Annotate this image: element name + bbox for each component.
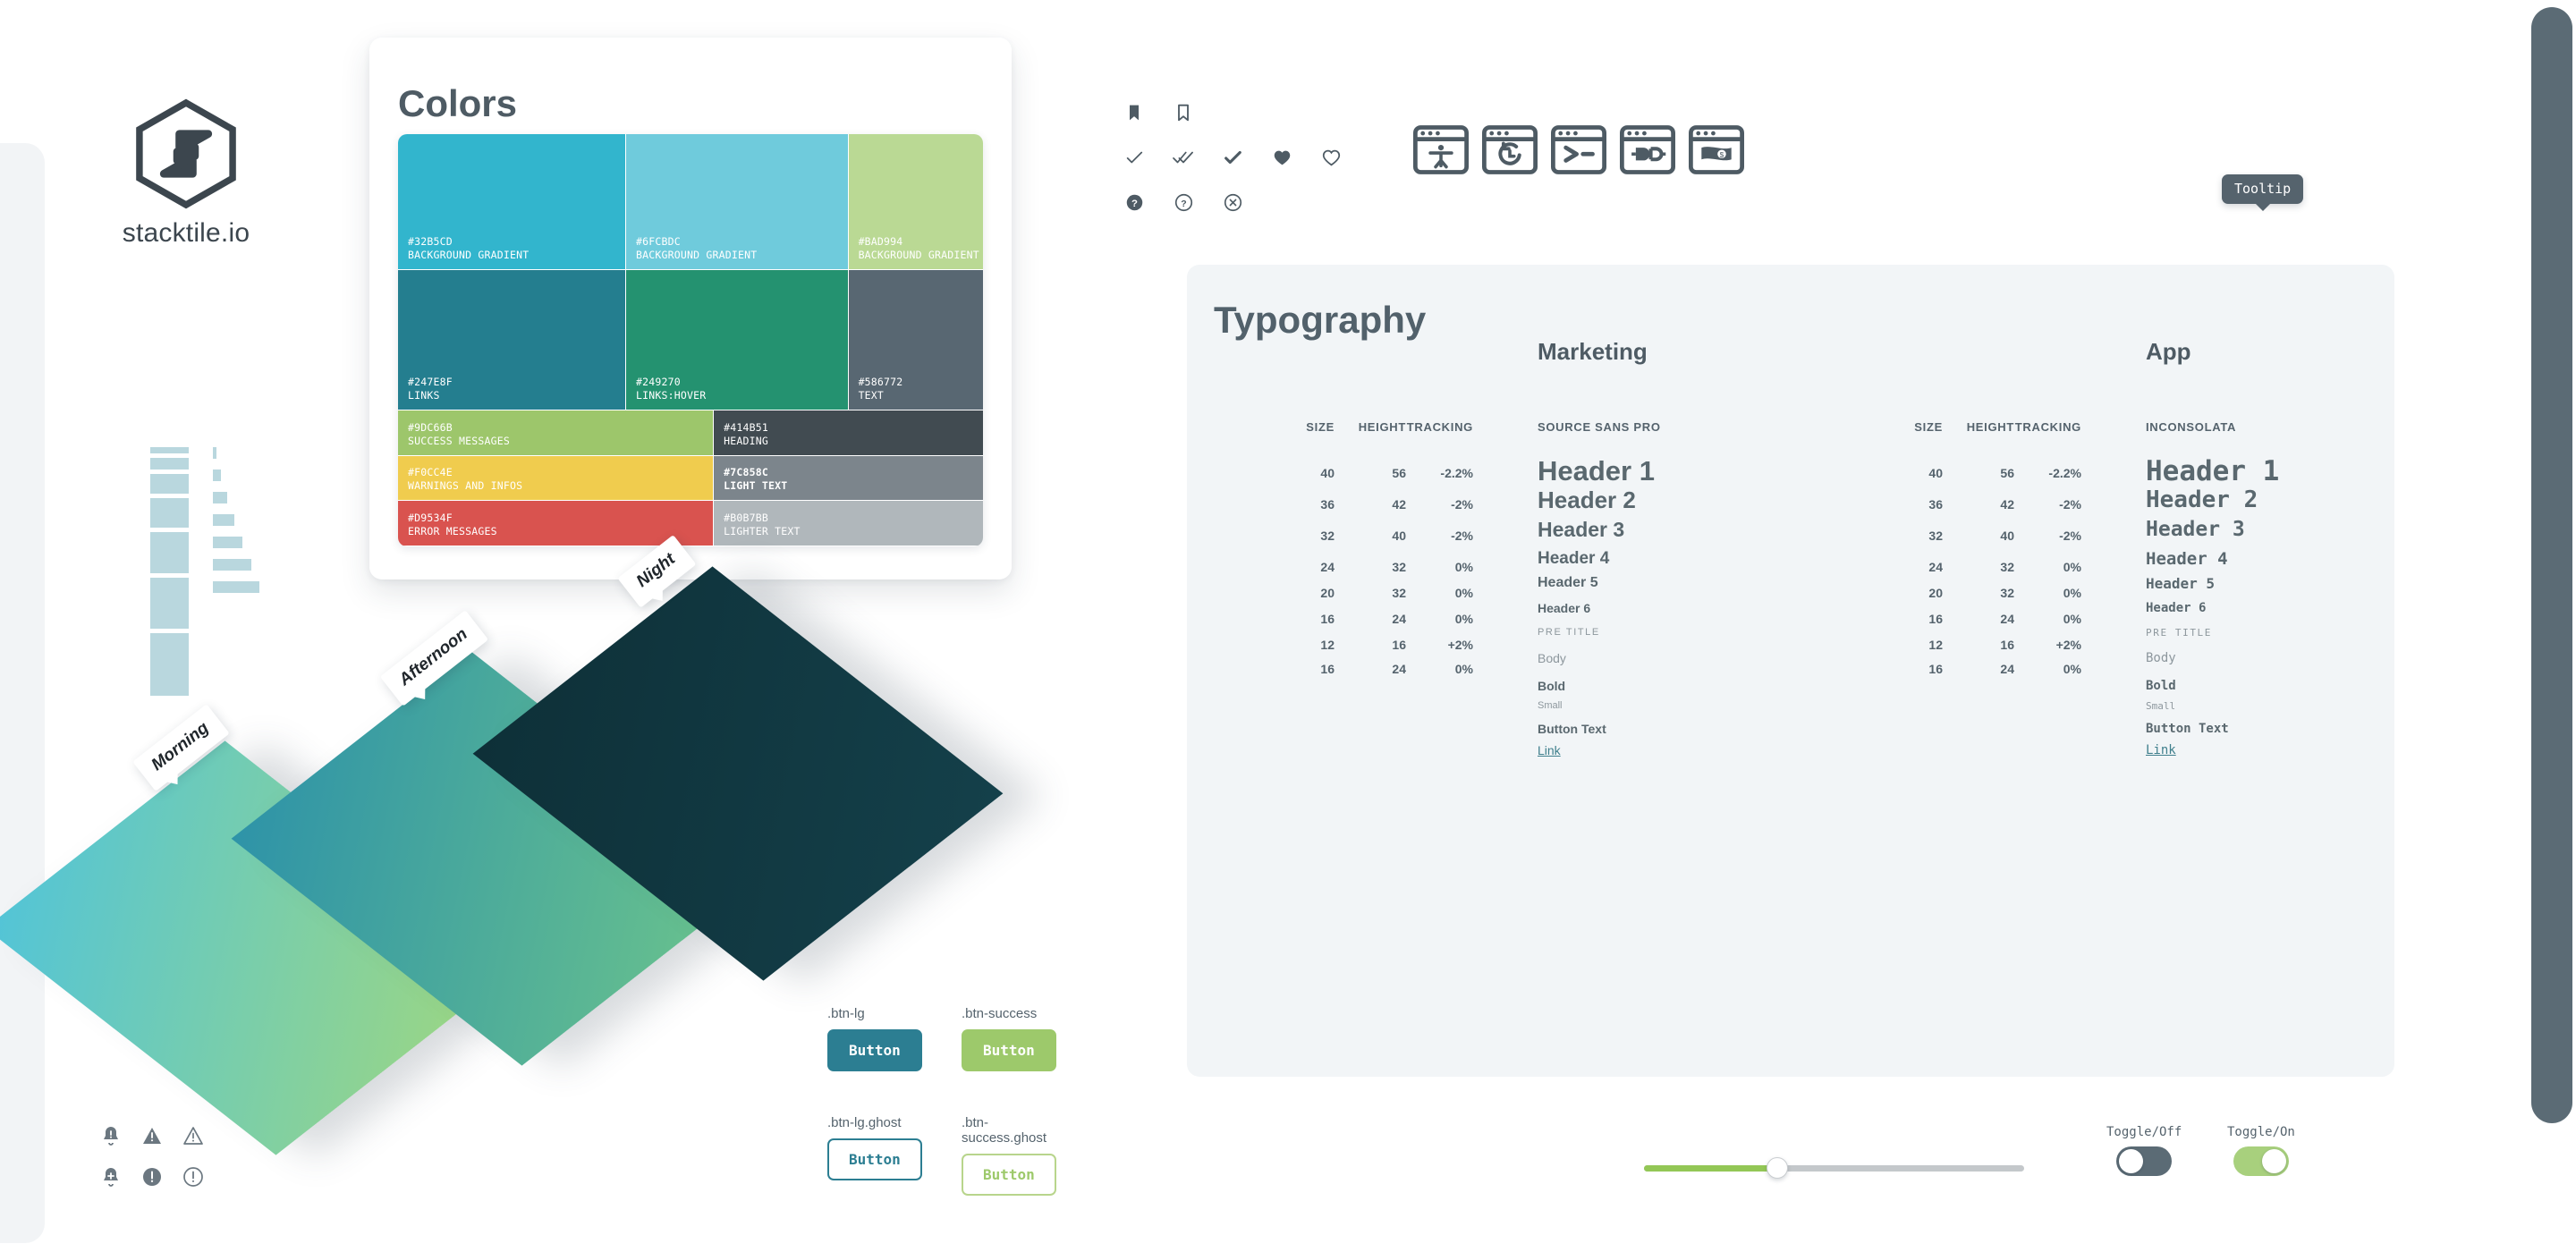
swatch-label: #F0CC4EWARNINGS AND INFOS: [408, 466, 522, 493]
color-swatch[interactable]: #32B5CDBACKGROUND GRADIENT: [398, 134, 626, 270]
typography-cell: 36: [1254, 497, 1335, 512]
toggle-on-switch[interactable]: [2233, 1146, 2289, 1176]
typography-cell: -2%: [2001, 497, 2081, 512]
svg-text:$: $: [1720, 150, 1724, 159]
typography-sample: Bold: [2146, 679, 2176, 693]
window-accessibility-icon[interactable]: [1413, 125, 1469, 174]
swatch-label: #32B5CDBACKGROUND GRADIENT: [408, 235, 529, 262]
typography-sample: Header 5: [1538, 575, 1598, 591]
typography-cell: 40: [1862, 466, 1943, 480]
slider-fill: [1644, 1165, 1777, 1172]
check-icon[interactable]: [1122, 145, 1147, 170]
icon-row-checks: [1122, 145, 1343, 170]
colors-title: Colors: [398, 82, 517, 125]
swatch-hex: #586772: [859, 376, 903, 389]
typography-table: MarketingSIZEHEIGHTTRACKINGSOURCE SANS P…: [1187, 265, 2394, 1077]
info-outline-icon[interactable]: [182, 1166, 204, 1188]
typography-sample: Small: [1538, 700, 1563, 711]
typography-sample: Body: [2146, 651, 2176, 665]
typography-sample: Header 1: [2146, 455, 2279, 487]
typography-cell: 0%: [1393, 662, 1473, 676]
toggle-off-group: Toggle/Off: [2106, 1125, 2182, 1180]
swatch-hex: #7C858C: [724, 466, 787, 479]
scale-bar: [213, 537, 242, 548]
swatch-label: #7C858CLIGHT TEXT: [724, 466, 787, 493]
swatch-hex: #414B51: [724, 421, 768, 435]
bookmark-filled-icon[interactable]: [1122, 100, 1147, 125]
typography-column-header: SIZE: [1254, 420, 1335, 434]
window-icon-set: $: [1413, 125, 1744, 174]
demo-button[interactable]: Button: [827, 1138, 922, 1180]
color-swatch[interactable]: #247E8FLINKS: [398, 270, 626, 410]
typography-cell: 12: [1862, 638, 1943, 652]
slider-knob[interactable]: [1767, 1157, 1788, 1179]
scale-block: [150, 474, 189, 494]
swatch-label: #247E8FLINKS: [408, 376, 453, 402]
scale-bar: [213, 469, 221, 481]
icon-row-help: ? ?: [1122, 190, 1343, 215]
demo-button[interactable]: Button: [962, 1029, 1056, 1071]
icon-set: ? ?: [1122, 100, 1343, 234]
swatch-hex: #249270: [636, 376, 706, 389]
scale-block: [150, 578, 189, 629]
typography-cell: 24: [1254, 560, 1335, 574]
typography-cell: 0%: [2001, 560, 2081, 574]
hexagon-s-logo-icon: [131, 98, 241, 209]
swatch-hex: #247E8F: [408, 376, 453, 389]
color-swatch[interactable]: #9DC66BSUCCESS MESSAGES: [398, 410, 714, 456]
swatch-label: #D9534FERROR MESSAGES: [408, 512, 497, 538]
info-filled-icon[interactable]: [141, 1166, 163, 1188]
toggle-on-group: Toggle/On: [2227, 1125, 2295, 1180]
scale-bars: [213, 447, 259, 604]
button-class-label: .btn-success: [962, 1006, 1056, 1021]
typography-font-header: INCONSOLATA: [2146, 420, 2236, 434]
colors-card: Colors #32B5CDBACKGROUND GRADIENT#6FCBDC…: [369, 38, 1012, 579]
swatch-label: #9DC66BSUCCESS MESSAGES: [408, 421, 510, 448]
scale-block: [150, 447, 189, 453]
typography-cell: -2.2%: [1393, 466, 1473, 480]
swatch-role: TEXT: [859, 389, 903, 402]
typography-cell: +2%: [2001, 638, 2081, 652]
swatch-role: BACKGROUND GRADIENT: [636, 249, 757, 262]
typography-sample: Small: [2146, 700, 2175, 712]
color-swatch[interactable]: #586772TEXT: [849, 270, 983, 410]
typography-sample[interactable]: Link: [1538, 743, 1561, 757]
typography-sample: Header 6: [1538, 601, 1590, 615]
toggle-off-knob: [2119, 1149, 2143, 1173]
tooltip-example: Tooltip: [2222, 174, 2303, 204]
typography-cell: 0%: [1393, 560, 1473, 574]
color-swatch[interactable]: #6FCBDCBACKGROUND GRADIENT: [626, 134, 849, 270]
color-swatch[interactable]: #F0CC4EWARNINGS AND INFOS: [398, 456, 714, 502]
typography-cell: 32: [1254, 529, 1335, 543]
warning-filled-icon[interactable]: [141, 1125, 163, 1146]
heart-outline-icon[interactable]: [1318, 145, 1343, 170]
swatch-row: #9DC66BSUCCESS MESSAGES#414B51HEADING: [398, 410, 983, 456]
color-swatch[interactable]: #BAD994BACKGROUND GRADIENT: [849, 134, 983, 270]
swatch-hex: #32B5CD: [408, 235, 529, 249]
typography-sample: Header 1: [1538, 455, 1655, 487]
window-plug-icon[interactable]: [1620, 125, 1675, 174]
color-swatch[interactable]: #249270LINKS:HOVER: [626, 270, 849, 410]
typography-sample: Bold: [1538, 679, 1565, 693]
scale-block: [150, 458, 189, 469]
typography-column-header: SIZE: [1862, 420, 1943, 434]
swatch-role: ERROR MESSAGES: [408, 525, 497, 538]
typography-cell: -2%: [1393, 529, 1473, 543]
color-swatch[interactable]: #7C858CLIGHT TEXT: [714, 456, 983, 502]
swatch-label: #249270LINKS:HOVER: [636, 376, 706, 402]
typography-cell: 16: [1254, 612, 1335, 626]
alert-icon-set: [100, 1125, 204, 1207]
heart-filled-icon[interactable]: [1269, 145, 1294, 170]
typography-sample: Button Text: [2146, 722, 2229, 736]
swatch-role: LINKS: [408, 389, 453, 402]
typography-cell: -2.2%: [2001, 466, 2081, 480]
scale-block: [150, 532, 189, 573]
swatch-hex: #6FCBDC: [636, 235, 757, 249]
swatch-role: HEADING: [724, 435, 768, 448]
swatch-label: #BAD994BACKGROUND GRADIENT: [859, 235, 979, 262]
scale-bar: [213, 492, 227, 503]
typography-group-title: Marketing: [1538, 338, 1648, 366]
scale-bar: [213, 447, 216, 459]
check-bold-icon[interactable]: [1220, 145, 1245, 170]
button-variant-cell: .btn-success.ghostButton: [962, 1115, 1056, 1196]
swatch-role: WARNINGS AND INFOS: [408, 479, 522, 493]
button-variant-cell: .btn-lgButton: [827, 1006, 922, 1071]
toggle-off-switch[interactable]: [2116, 1146, 2172, 1176]
swatch-role: BACKGROUND GRADIENT: [408, 249, 529, 262]
swatch-hex: #B0B7BB: [724, 512, 800, 525]
scrollbar-track[interactable]: [2526, 0, 2576, 1252]
demo-button[interactable]: Button: [962, 1154, 1056, 1196]
typography-sample: Header 5: [2146, 575, 2215, 592]
typography-cell: 16: [1862, 662, 1943, 676]
swatch-row: #D9534FERROR MESSAGES#B0B7BBLIGHTER TEXT: [398, 501, 983, 546]
brand-name: stacktile.io: [97, 218, 275, 249]
typography-group-title: App: [2146, 338, 2191, 366]
window-money-icon[interactable]: $: [1689, 125, 1744, 174]
swatch-row: #32B5CDBACKGROUND GRADIENT#6FCBDCBACKGRO…: [398, 134, 983, 270]
typography-cell: 16: [1862, 612, 1943, 626]
typography-cell: 0%: [2001, 612, 2081, 626]
button-variant-cell: .btn-successButton: [962, 1006, 1056, 1071]
typography-sample: PRE TITLE: [1538, 627, 1600, 638]
icon-row-bookmarks: [1122, 100, 1343, 125]
typography-cell: 32: [1862, 529, 1943, 543]
double-check-icon[interactable]: [1171, 145, 1196, 170]
typography-cell: -2%: [1393, 497, 1473, 512]
swatch-role: LIGHT TEXT: [724, 479, 787, 493]
typography-cell: +2%: [1393, 638, 1473, 652]
typography-cell: 16: [1254, 662, 1335, 676]
typography-font-header: SOURCE SANS PRO: [1538, 420, 1661, 434]
button-class-label: .btn-success.ghost: [962, 1115, 1056, 1146]
swatch-role: LINKS:HOVER: [636, 389, 706, 402]
typography-column-header: TRACKING: [1393, 420, 1473, 434]
alert-row-1: [100, 1125, 204, 1146]
color-swatch[interactable]: #414B51HEADING: [714, 410, 983, 456]
range-slider[interactable]: [1644, 1163, 2024, 1173]
typography-sample: Header 6: [2146, 601, 2206, 615]
swatch-label: #586772TEXT: [859, 376, 903, 402]
toggle-on-label: Toggle/On: [2227, 1125, 2295, 1139]
color-swatch-grid: #32B5CDBACKGROUND GRADIENT#6FCBDCBACKGRO…: [398, 134, 983, 546]
typography-cell: 0%: [1393, 612, 1473, 626]
typography-sample: Header 4: [1538, 549, 1609, 569]
scale-bar: [213, 581, 259, 593]
button-class-label: .btn-lg: [827, 1006, 922, 1021]
tooltip-bubble: Tooltip: [2222, 174, 2303, 204]
typography-sample: Header 4: [2146, 549, 2228, 569]
typography-sample: Header 3: [2146, 518, 2245, 541]
alert-row-2: [100, 1166, 204, 1188]
swatch-hex: #F0CC4E: [408, 466, 522, 479]
svg-text:?: ?: [1131, 198, 1138, 208]
typography-cell: 36: [1862, 497, 1943, 512]
swatch-hex: #9DC66B: [408, 421, 510, 435]
left-side-panel: [0, 143, 45, 1243]
swatch-role: SUCCESS MESSAGES: [408, 435, 510, 448]
typography-sample: Header 3: [1538, 518, 1624, 542]
typography-sample: PRE TITLE: [2146, 627, 2212, 639]
swatch-hex: #BAD994: [859, 235, 979, 249]
brand-logo: stacktile.io: [97, 98, 275, 249]
swatch-hex: #D9534F: [408, 512, 497, 525]
swatch-role: BACKGROUND GRADIENT: [859, 249, 979, 262]
window-history-icon[interactable]: [1482, 125, 1538, 174]
typography-cell: 40: [1254, 466, 1335, 480]
demo-button[interactable]: Button: [827, 1029, 922, 1071]
scale-block: [150, 498, 189, 528]
typography-cell: 0%: [2001, 662, 2081, 676]
bell-add-icon[interactable]: [100, 1166, 122, 1188]
typography-sample: Header 2: [1538, 486, 1636, 514]
typography-column-header: TRACKING: [2001, 420, 2081, 434]
close-circle-icon[interactable]: [1220, 190, 1245, 215]
button-class-label: .btn-lg.ghost: [827, 1115, 922, 1130]
typography-card: Typography MarketingSIZEHEIGHTTRACKINGSO…: [1187, 265, 2394, 1077]
typography-cell: -2%: [2001, 529, 2081, 543]
scale-bar: [213, 514, 234, 526]
help-filled-icon[interactable]: ?: [1122, 190, 1147, 215]
swatch-label: #414B51HEADING: [724, 421, 768, 448]
typography-cell: 24: [1862, 560, 1943, 574]
swatch-role: LIGHTER TEXT: [724, 525, 800, 538]
bookmark-outline-icon[interactable]: [1171, 100, 1196, 125]
typography-sample: Button Text: [1538, 722, 1606, 736]
swatch-label: #B0B7BBLIGHTER TEXT: [724, 512, 800, 538]
color-swatch[interactable]: #B0B7BBLIGHTER TEXT: [714, 501, 983, 546]
typography-cell: 0%: [2001, 586, 2081, 600]
typography-cell: 0%: [1393, 586, 1473, 600]
typography-cell: 20: [1254, 586, 1335, 600]
svg-text:?: ?: [1181, 198, 1186, 208]
swatch-row: #247E8FLINKS#249270LINKS:HOVER#586772TEX…: [398, 270, 983, 410]
style-guide-page: stacktile.io Colors #32B5CDBACKGROUND GR…: [0, 0, 2576, 1252]
toggle-on-knob: [2262, 1149, 2286, 1173]
toggle-off-label: Toggle/Off: [2106, 1125, 2182, 1139]
swatch-label: #6FCBDCBACKGROUND GRADIENT: [636, 235, 757, 262]
help-outline-icon[interactable]: ?: [1171, 190, 1196, 215]
scrollbar-thumb[interactable]: [2531, 7, 2572, 1123]
swatch-row: #F0CC4EWARNINGS AND INFOS#7C858CLIGHT TE…: [398, 456, 983, 502]
typography-sample[interactable]: Link: [2146, 743, 2176, 757]
scale-bar: [213, 559, 251, 571]
typography-cell: 20: [1862, 586, 1943, 600]
window-terminal-icon[interactable]: [1551, 125, 1606, 174]
button-variant-cell: .btn-lg.ghostButton: [827, 1115, 922, 1180]
typography-cell: 12: [1254, 638, 1335, 652]
warning-outline-icon[interactable]: [182, 1125, 204, 1146]
typography-sample: Header 2: [2146, 486, 2258, 513]
typography-sample: Body: [1538, 651, 1566, 665]
bell-alert-icon[interactable]: [100, 1125, 122, 1146]
